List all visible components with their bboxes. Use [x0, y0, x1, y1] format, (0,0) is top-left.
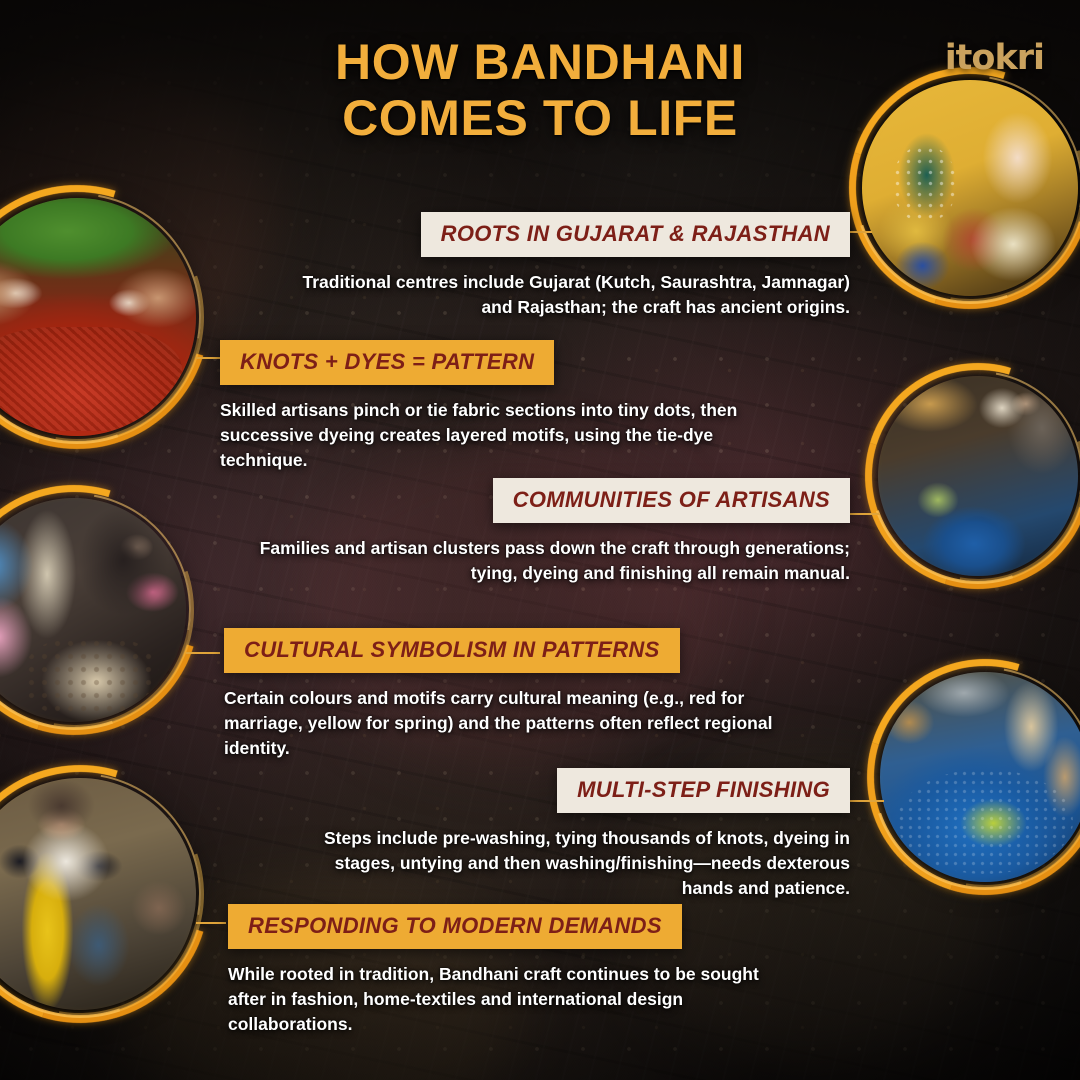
- photo-disc: [880, 672, 1080, 882]
- section-label-band: RESPONDING TO MODERN DEMANDS: [228, 904, 682, 949]
- section-label-band: COMMUNITIES OF ARTISANS: [493, 478, 850, 523]
- photo-dyer-yellow-cloth: [0, 778, 196, 1010]
- connector-line: [196, 922, 226, 924]
- section-body-text: Skilled artisans pinch or tie fabric sec…: [220, 398, 780, 473]
- photo-image: [0, 498, 186, 722]
- section-body-text: Traditional centres include Gujarat (Kut…: [270, 270, 850, 320]
- photo-hands-tying-red-fabric: [0, 198, 196, 436]
- photo-disc: [878, 376, 1078, 576]
- title-line-2: COMES TO LIFE: [170, 90, 910, 146]
- photo-image: [880, 672, 1080, 882]
- photo-disc: [0, 198, 196, 436]
- itokri-logo[interactable]: itokri: [945, 38, 1044, 78]
- section-roots-in-gujarat-rajasthan: ROOTS IN GUJARAT & RAJASTHAN Traditional…: [270, 212, 850, 320]
- section-body-text: Certain colours and motifs carry cultura…: [224, 686, 794, 761]
- section-label-band: CULTURAL SYMBOLISM IN PATTERNS: [224, 628, 680, 673]
- section-communities-of-artisans: COMMUNITIES OF ARTISANS Families and art…: [230, 478, 850, 586]
- section-responding-to-modern-demands: RESPONDING TO MODERN DEMANDS While roote…: [228, 904, 788, 1037]
- title-line-1: HOW BANDHANI: [335, 34, 745, 90]
- photo-dye-vat-bundles: [880, 672, 1080, 882]
- connector-line: [186, 652, 220, 654]
- photo-elderly-woman-tying: [0, 498, 186, 722]
- photo-dyer-blue-tub: [878, 376, 1078, 576]
- page-title: HOW BANDHANI COMES TO LIFE: [0, 34, 1080, 146]
- photo-image: [0, 198, 196, 436]
- photo-image: [0, 778, 196, 1010]
- photo-image: [878, 376, 1078, 576]
- section-body-text: Steps include pre-washing, tying thousan…: [316, 826, 850, 901]
- section-body-text: While rooted in tradition, Bandhani craf…: [228, 962, 788, 1037]
- section-knots-dyes-pattern: KNOTS + DYES = PATTERN Skilled artisans …: [220, 340, 780, 473]
- section-multi-step-finishing: MULTI-STEP FINISHING Steps include pre-w…: [316, 768, 850, 901]
- section-label-band: ROOTS IN GUJARAT & RAJASTHAN: [421, 212, 850, 257]
- section-label-band: MULTI-STEP FINISHING: [557, 768, 850, 813]
- connector-line: [850, 800, 884, 802]
- photo-disc: [0, 778, 196, 1010]
- photo-disc: [0, 498, 186, 722]
- section-body-text: Families and artisan clusters pass down …: [230, 536, 850, 586]
- section-label-band: KNOTS + DYES = PATTERN: [220, 340, 554, 385]
- section-cultural-symbolism-in-patterns: CULTURAL SYMBOLISM IN PATTERNS Certain c…: [224, 628, 794, 761]
- connector-line: [846, 513, 880, 515]
